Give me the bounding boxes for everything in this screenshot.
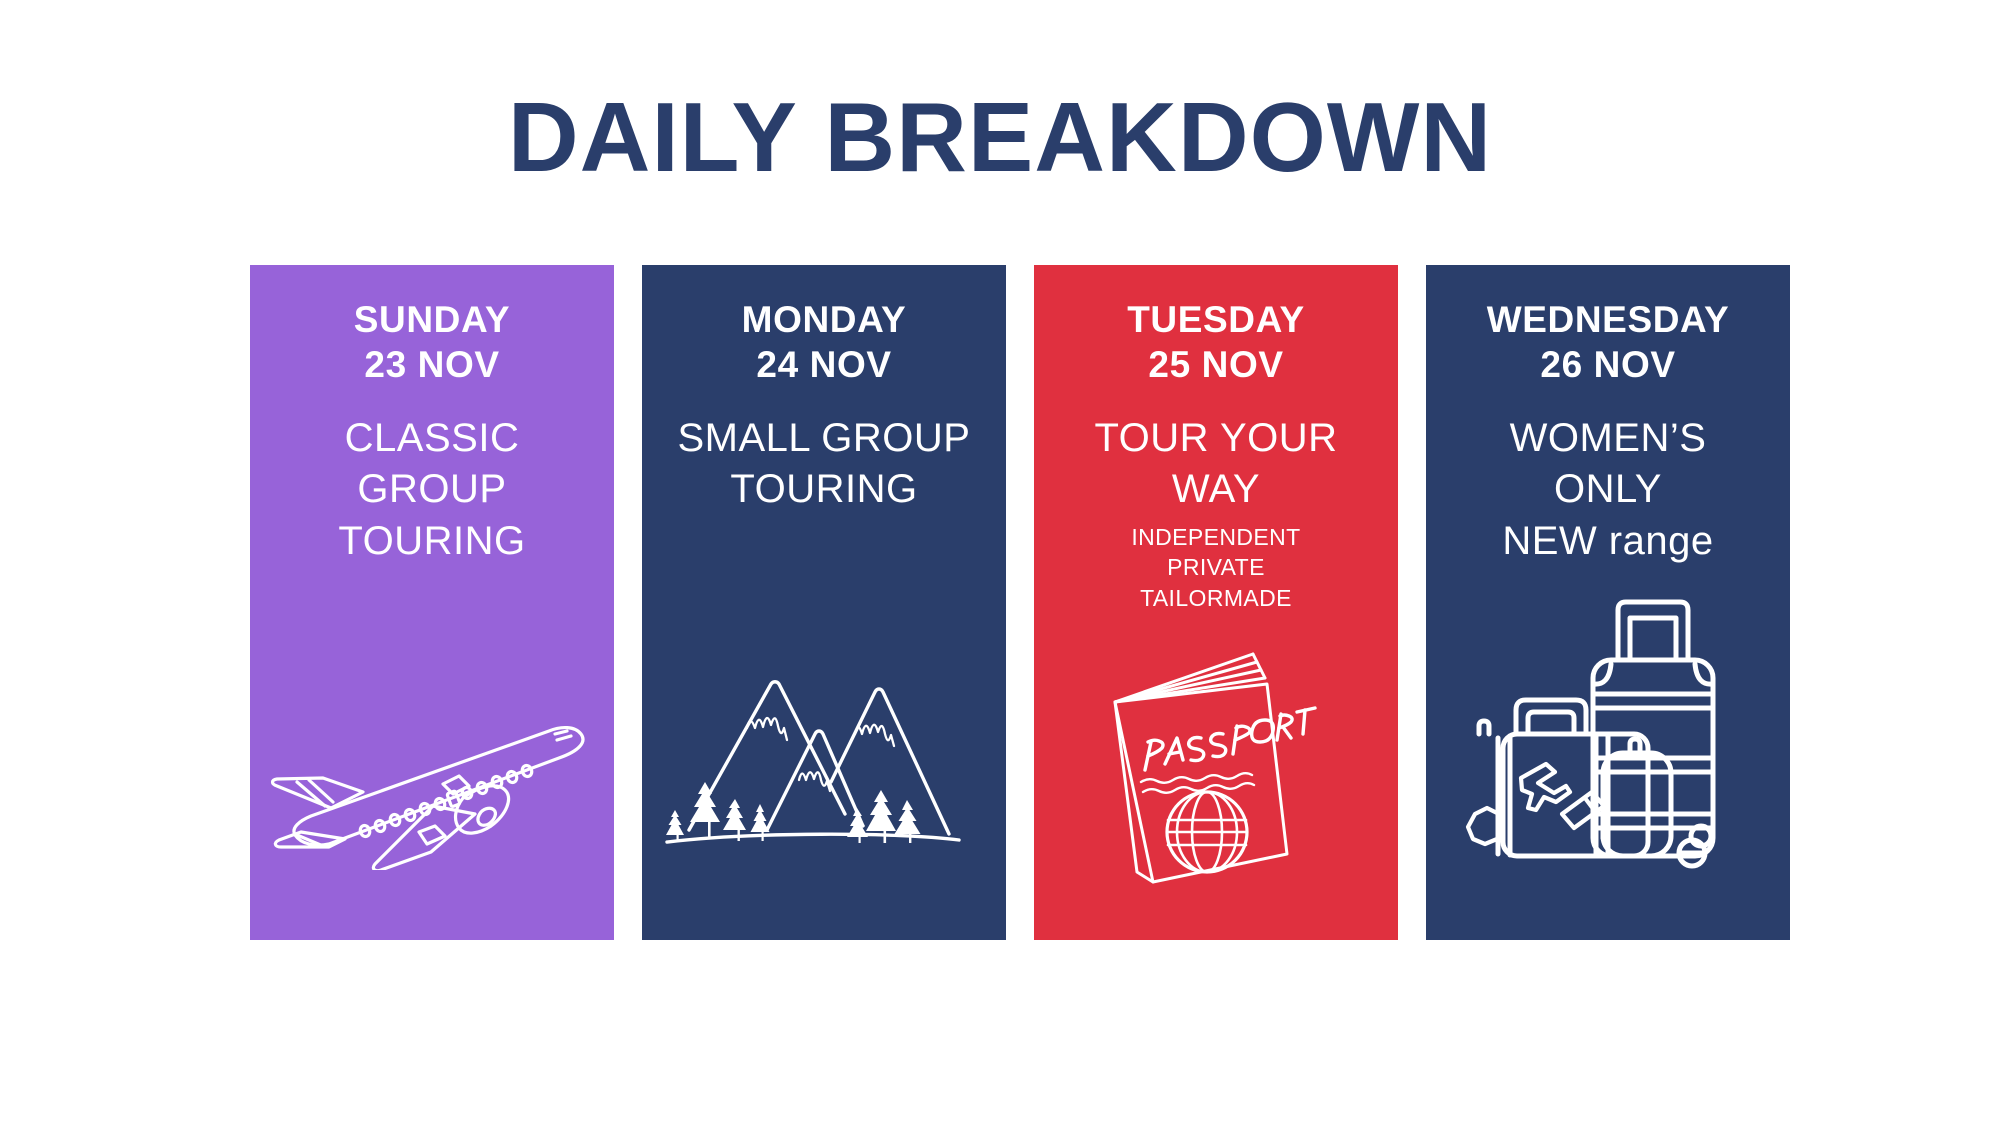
day-name: WEDNESDAY xyxy=(1487,297,1730,342)
page-title: DAILY BREAKDOWN xyxy=(0,88,2000,186)
passport-illustration xyxy=(1034,642,1398,892)
day-date: 26 NOV xyxy=(1540,342,1675,387)
day-description: WOMEN’S ONLY NEW range xyxy=(1502,413,1713,567)
day-name: SUNDAY xyxy=(354,297,510,342)
poster: DAILY BREAKDOWN SUNDAY 23 NOV CLASSIC GR… xyxy=(0,0,2000,1125)
passport-icon xyxy=(1101,642,1331,892)
day-column-sunday[interactable]: SUNDAY 23 NOV CLASSIC GROUP TOURING xyxy=(250,265,614,940)
day-description: TOUR YOUR WAY xyxy=(1094,413,1337,515)
day-description: CLASSIC GROUP TOURING xyxy=(338,413,525,567)
day-columns: SUNDAY 23 NOV CLASSIC GROUP TOURING xyxy=(250,265,1790,940)
day-name: TUESDAY xyxy=(1127,297,1305,342)
day-name: MONDAY xyxy=(742,297,907,342)
mountains-icon xyxy=(659,662,989,862)
luggage-icon xyxy=(1458,598,1758,888)
luggage-illustration xyxy=(1426,598,1790,888)
day-column-wednesday[interactable]: WEDNESDAY 26 NOV WOMEN’S ONLY NEW range xyxy=(1426,265,1790,940)
day-subtext: INDEPENDENT PRIVATE TAILORMADE xyxy=(1131,522,1300,614)
day-date: 24 NOV xyxy=(756,342,891,387)
day-column-tuesday[interactable]: TUESDAY 25 NOV TOUR YOUR WAY INDEPENDENT… xyxy=(1034,265,1398,940)
airplane-icon xyxy=(267,720,597,870)
day-description: SMALL GROUP TOURING xyxy=(678,413,971,515)
mountains-illustration xyxy=(642,662,1006,862)
day-column-monday[interactable]: MONDAY 24 NOV SMALL GROUP TOURING xyxy=(642,265,1006,940)
day-date: 23 NOV xyxy=(364,342,499,387)
day-date: 25 NOV xyxy=(1148,342,1283,387)
airplane-illustration xyxy=(250,720,614,870)
